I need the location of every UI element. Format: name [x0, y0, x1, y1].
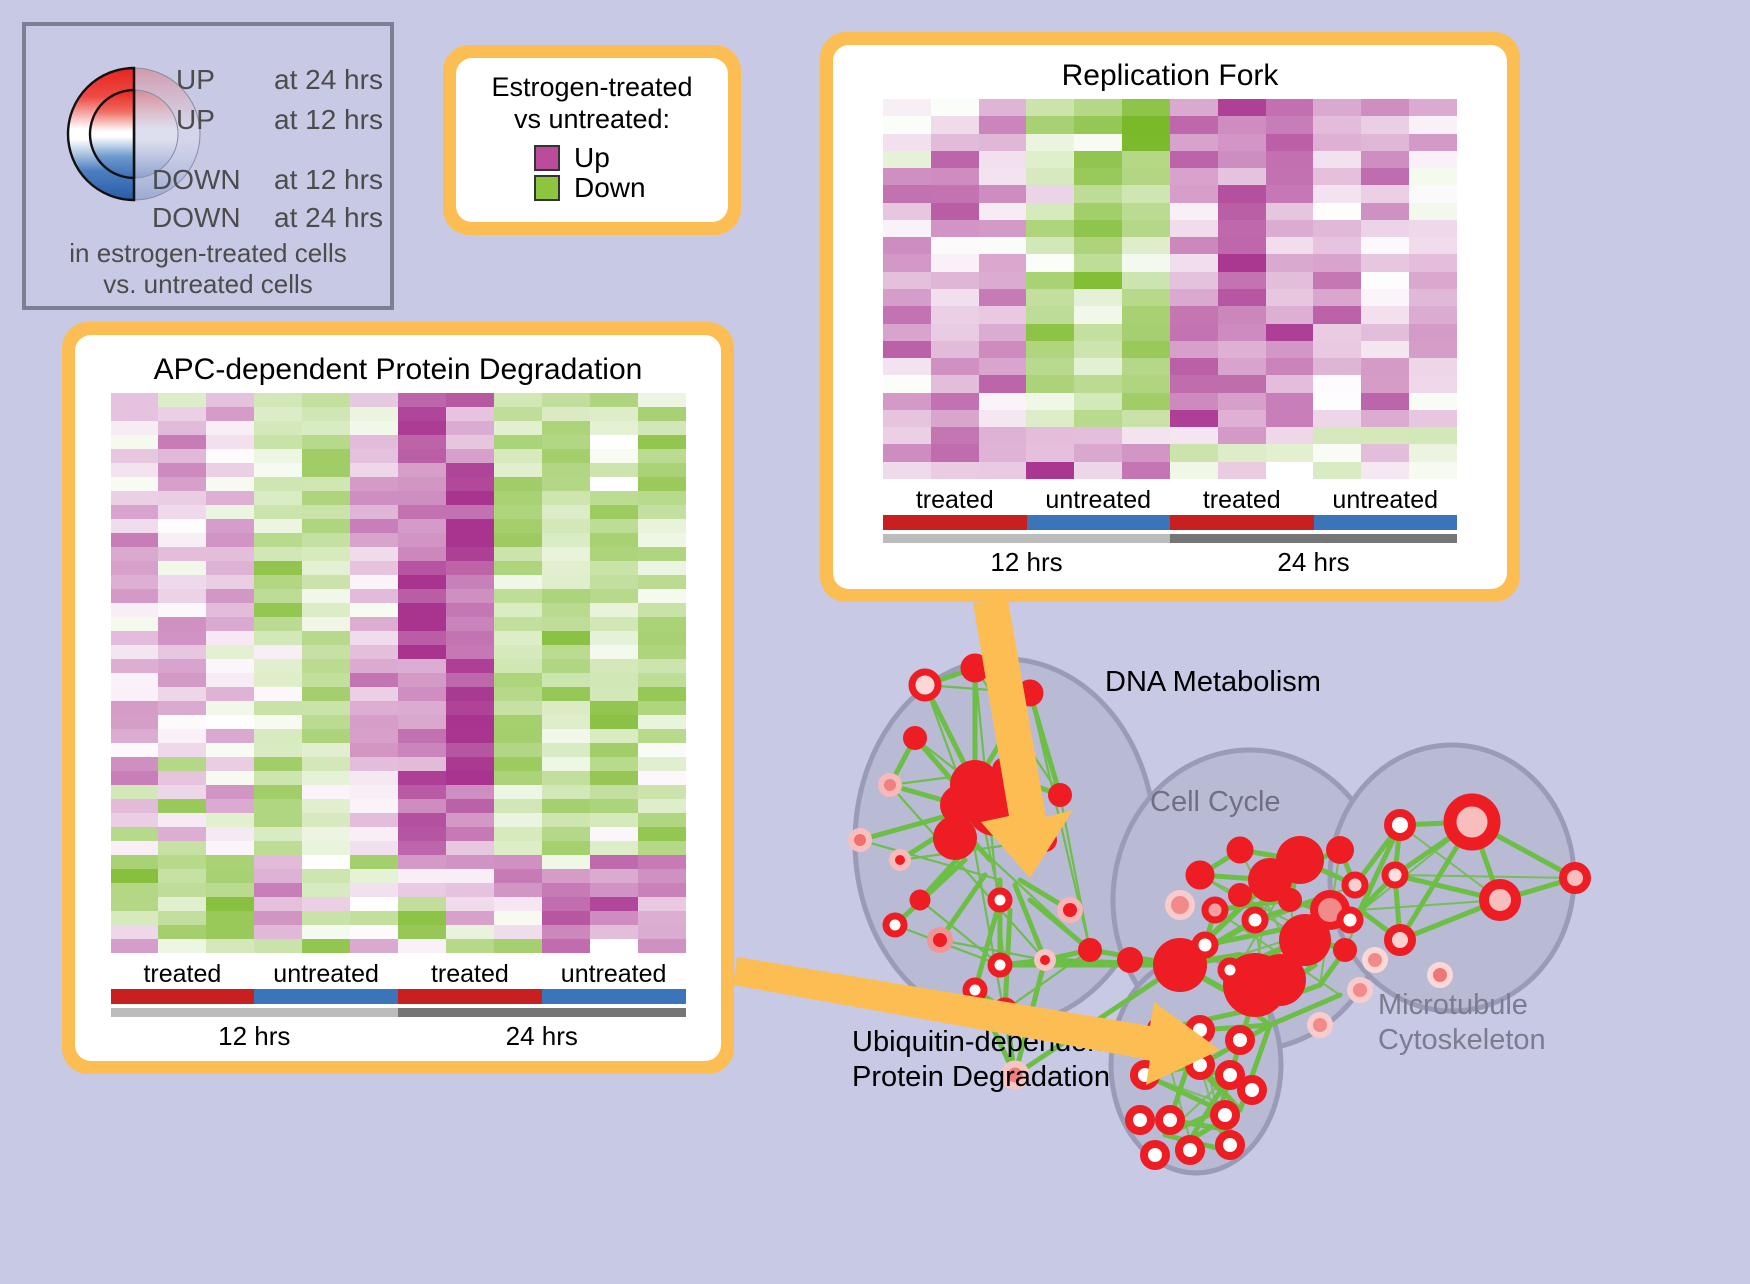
heatmap-cell — [254, 547, 302, 561]
heatmap-cell — [254, 617, 302, 631]
heatmap-cell — [158, 449, 206, 463]
heatmap-cell — [111, 701, 159, 715]
heatmap-cell — [111, 687, 159, 701]
heatmap-cell — [883, 237, 931, 254]
heatmap-cell — [638, 491, 686, 505]
heatmap-cell — [1409, 168, 1457, 185]
heatmap-cell — [1266, 324, 1314, 341]
heatmap-cell — [494, 799, 542, 813]
heatmap-cell — [1122, 168, 1170, 185]
heatmap-cell — [350, 743, 398, 757]
condition-label: untreated — [254, 960, 398, 989]
heatmap-cell — [1074, 341, 1122, 358]
heatmap-cell — [1170, 306, 1218, 323]
heatmap-cell — [158, 421, 206, 435]
heatmap-cell — [1218, 185, 1266, 202]
legend-inner: Estrogen-treated vs untreated: Up Down — [456, 58, 728, 222]
heatmap-cell — [446, 925, 494, 939]
heatmap-cell — [1266, 220, 1314, 237]
heatmap-cell — [254, 659, 302, 673]
heatmap-cell — [206, 449, 254, 463]
heatmap-cell — [1026, 393, 1074, 410]
heatmap-cell — [398, 477, 446, 491]
heatmap-cell — [979, 341, 1027, 358]
heatmap-cell — [254, 743, 302, 757]
heatmap-cell — [590, 477, 638, 491]
heatmap-cell — [446, 855, 494, 869]
heatmap-cell — [494, 421, 542, 435]
heatmap-cell — [1170, 358, 1218, 375]
condition-bar-untreated — [1314, 515, 1458, 530]
heatmap-cell — [1026, 134, 1074, 151]
heatmap-cell — [494, 393, 542, 407]
heatmap-cell — [542, 743, 590, 757]
heatmap-cell — [350, 547, 398, 561]
heatmap-cell — [158, 435, 206, 449]
heatmap-cell — [206, 631, 254, 645]
heatmap-cell — [638, 589, 686, 603]
heatmap-cell — [542, 505, 590, 519]
heatmap-cell — [494, 561, 542, 575]
heatmap-cell — [542, 575, 590, 589]
key-row-2-time: at 12 hrs — [274, 164, 383, 195]
heatmap-cell — [1313, 306, 1361, 323]
heatmap-cell — [1026, 427, 1074, 444]
heatmap-cell — [206, 911, 254, 925]
heatmap-cell — [931, 168, 979, 185]
heatmap-cell — [1361, 116, 1409, 133]
heatmap-cell — [1170, 134, 1218, 151]
heatmap-cell — [1122, 254, 1170, 271]
heatmap-cell — [638, 841, 686, 855]
heatmap-cell — [979, 324, 1027, 341]
heatmap-cell — [350, 939, 398, 953]
key-row-3-label: DOWN — [152, 202, 241, 233]
heatmap-cell — [542, 869, 590, 883]
heatmap-cell — [979, 375, 1027, 392]
heatmap-cell — [1361, 306, 1409, 323]
heatmap-cell — [638, 855, 686, 869]
heatmap-cell — [1218, 289, 1266, 306]
heatmap-cell — [302, 603, 350, 617]
heatmap-cell — [979, 185, 1027, 202]
heatmap-cell — [638, 575, 686, 589]
heatmap-cell — [446, 407, 494, 421]
heatmap-cell — [494, 407, 542, 421]
heatmap-cell — [1218, 272, 1266, 289]
heatmap-cell — [1409, 116, 1457, 133]
heatmap-cell — [1409, 393, 1457, 410]
heatmap-cell — [302, 659, 350, 673]
heatmap-cell — [158, 407, 206, 421]
heatmap-cell — [158, 757, 206, 771]
heatmap-cell — [638, 519, 686, 533]
heatmap-cell — [1409, 289, 1457, 306]
heatmap-cell — [398, 407, 446, 421]
heatmap-cell — [1361, 410, 1409, 427]
heatmap-cell — [350, 897, 398, 911]
heatmap-cell — [111, 897, 159, 911]
heatmap-cell — [254, 645, 302, 659]
heatmap-cell — [1361, 272, 1409, 289]
heatmap-cell — [206, 589, 254, 603]
heatmap-cell — [1170, 375, 1218, 392]
heatmap-cell — [350, 883, 398, 897]
heatmap-cell — [158, 925, 206, 939]
heatmap-cell — [398, 659, 446, 673]
heatmap-cell — [590, 729, 638, 743]
heatmap-cell — [542, 421, 590, 435]
heatmap-cell — [979, 462, 1027, 479]
heatmap-cell — [446, 575, 494, 589]
heatmap-cell — [350, 421, 398, 435]
heatmap-cell — [158, 813, 206, 827]
key-row-3-time-wrap: at 24 hrs — [274, 204, 383, 232]
heatmap-cell — [206, 393, 254, 407]
heatmap-cell — [883, 427, 931, 444]
microtubule-line1: Microtubule — [1378, 988, 1546, 1023]
heatmap-cell — [350, 505, 398, 519]
heatmap-cell — [1313, 462, 1361, 479]
heatmap-cell — [398, 855, 446, 869]
heatmap-cell — [446, 589, 494, 603]
heatmap-cell — [350, 449, 398, 463]
heatmap-cell — [1266, 289, 1314, 306]
heatmap-cell — [638, 533, 686, 547]
heatmap-cell — [1074, 289, 1122, 306]
heatmap-cell — [158, 911, 206, 925]
heatmap-cell — [1122, 393, 1170, 410]
condition-bar-treated — [398, 989, 542, 1004]
heatmap-cell — [1170, 237, 1218, 254]
key-row-1-label: UP — [176, 104, 215, 135]
condition-label: treated — [398, 960, 542, 989]
heatmap-cell — [590, 435, 638, 449]
heatmap-cell — [638, 617, 686, 631]
heatmap-cell — [1074, 99, 1122, 116]
heatmap-cell — [206, 743, 254, 757]
heatmap-cell — [398, 939, 446, 953]
heatmap-cell — [494, 869, 542, 883]
heatmap-cell — [931, 341, 979, 358]
heatmap-cell — [542, 771, 590, 785]
heatmap-cell — [1218, 134, 1266, 151]
heatmap-cell — [254, 757, 302, 771]
heatmap-cell — [979, 220, 1027, 237]
heatmap-cell — [206, 799, 254, 813]
heatmap-cell — [1266, 185, 1314, 202]
condition-label: treated — [111, 960, 255, 989]
heatmap-cell — [590, 393, 638, 407]
heatmap-cell — [542, 911, 590, 925]
heatmap-cell — [590, 589, 638, 603]
heatmap-cell — [254, 477, 302, 491]
heatmap-cell — [398, 925, 446, 939]
heatmap-cell — [931, 151, 979, 168]
heatmap-cell — [350, 757, 398, 771]
heatmap-cell — [158, 883, 206, 897]
heatmap-cell — [1026, 375, 1074, 392]
heatmap-cell — [446, 561, 494, 575]
heatmap-cell — [638, 883, 686, 897]
heatmap-cell — [206, 477, 254, 491]
heatmap-cell — [883, 185, 931, 202]
heatmap-cell — [302, 939, 350, 953]
heatmap-cell — [254, 575, 302, 589]
heatmap-cell — [1361, 289, 1409, 306]
heatmap-cell — [1122, 375, 1170, 392]
condition-bar-untreated — [254, 989, 398, 1004]
heatmap-cell — [590, 491, 638, 505]
heatmap-cell — [1026, 444, 1074, 461]
apc-condition-labels: treateduntreatedtreateduntreated — [111, 953, 686, 989]
heatmap-cell — [398, 589, 446, 603]
heatmap-cell — [398, 813, 446, 827]
apc-degradation-title: APC-dependent Protein Degradation — [75, 335, 721, 393]
heatmap-cell — [446, 673, 494, 687]
heatmap-cell — [350, 687, 398, 701]
heatmap-cell — [1266, 393, 1314, 410]
heatmap-cell — [1409, 341, 1457, 358]
heatmap-cell — [1361, 324, 1409, 341]
heatmap-cell — [446, 491, 494, 505]
heatmap-cell — [1170, 393, 1218, 410]
heatmap-cell — [158, 659, 206, 673]
heatmap-cell — [883, 393, 931, 410]
heatmap-cell — [1122, 99, 1170, 116]
heatmap-cell — [1313, 99, 1361, 116]
key-row-1-time: at 12 hrs — [274, 104, 383, 135]
heatmap-cell — [350, 617, 398, 631]
heatmap-cell — [446, 827, 494, 841]
heatmap-cell — [542, 491, 590, 505]
heatmap-cell — [1218, 168, 1266, 185]
heatmap-cell — [979, 116, 1027, 133]
heatmap-cell — [302, 673, 350, 687]
heatmap-cell — [931, 289, 979, 306]
heatmap-cell — [111, 869, 159, 883]
heatmap-cell — [979, 134, 1027, 151]
heatmap-cell — [1122, 289, 1170, 306]
heatmap-cell — [1266, 410, 1314, 427]
time-label: 24 hrs — [398, 1021, 686, 1052]
heatmap-cell — [1074, 375, 1122, 392]
heatmap-cell — [158, 505, 206, 519]
heatmap-cell — [638, 561, 686, 575]
heatmap-cell — [542, 393, 590, 407]
heatmap-cell — [542, 897, 590, 911]
heatmap-cell — [206, 617, 254, 631]
heatmap-cell — [931, 203, 979, 220]
heatmap-cell — [1313, 444, 1361, 461]
replication-fork-title: Replication Fork — [833, 45, 1507, 99]
heatmap-cell — [1170, 462, 1218, 479]
heatmap-cell — [590, 911, 638, 925]
heatmap-cell — [1074, 116, 1122, 133]
updown-legend-panel: Estrogen-treated vs untreated: Up Down — [443, 45, 741, 235]
heatmap-cell — [979, 254, 1027, 271]
heatmap-cell — [979, 444, 1027, 461]
legend-title-line1: Estrogen-treated — [456, 72, 728, 104]
heatmap-cell — [302, 575, 350, 589]
heatmap-cell — [446, 687, 494, 701]
heatmap-cell — [1409, 410, 1457, 427]
heatmap-cell — [1313, 427, 1361, 444]
heatmap-cell — [158, 519, 206, 533]
heatmap-cell — [1026, 324, 1074, 341]
heatmap-cell — [206, 547, 254, 561]
heatmap-cell — [1026, 116, 1074, 133]
heatmap-cell — [883, 254, 931, 271]
heatmap-cell — [1122, 462, 1170, 479]
heatmap-cell — [1313, 185, 1361, 202]
heatmap-cell — [542, 925, 590, 939]
legend-item-down: Down — [534, 174, 728, 202]
heatmap-cell — [590, 715, 638, 729]
heatmap-cell — [302, 491, 350, 505]
heatmap-cell — [979, 289, 1027, 306]
legend-items: Up Down — [456, 144, 728, 202]
heatmap-cell — [111, 589, 159, 603]
heatmap-cell — [1361, 341, 1409, 358]
heatmap-cell — [111, 435, 159, 449]
heatmap-cell — [494, 519, 542, 533]
heatmap-cell — [542, 659, 590, 673]
heatmap-cell — [931, 185, 979, 202]
heatmap-cell — [590, 771, 638, 785]
heatmap-cell — [931, 134, 979, 151]
heatmap-cell — [1266, 99, 1314, 116]
heatmap-cell — [302, 771, 350, 785]
heatmap-cell — [494, 827, 542, 841]
heatmap-cell — [111, 729, 159, 743]
heatmap-cell — [302, 505, 350, 519]
down-swatch-icon — [534, 175, 560, 201]
heatmap-cell — [931, 410, 979, 427]
heatmap-cell — [979, 272, 1027, 289]
heatmap-cell — [446, 645, 494, 659]
heatmap-cell — [931, 254, 979, 271]
heatmap-cell — [590, 449, 638, 463]
heatmap-cell — [590, 883, 638, 897]
heatmap-cell — [1170, 289, 1218, 306]
heatmap-cell — [111, 925, 159, 939]
heatmap-cell — [398, 715, 446, 729]
heatmap-cell — [1409, 272, 1457, 289]
heatmap-cell — [638, 449, 686, 463]
heatmap-cell — [158, 799, 206, 813]
heatmap-cell — [494, 897, 542, 911]
heatmap-cell — [158, 589, 206, 603]
heatmap-cell — [883, 306, 931, 323]
heatmap-cell — [931, 427, 979, 444]
heatmap-cell — [931, 358, 979, 375]
heatmap-cell — [111, 799, 159, 813]
heatmap-cell — [350, 603, 398, 617]
heatmap-cell — [494, 757, 542, 771]
time-bar-12hrs — [883, 534, 1170, 543]
heatmap-cell — [111, 743, 159, 757]
apc-condition-bars — [111, 989, 686, 1004]
heatmap-cell — [1026, 237, 1074, 254]
heatmap-cell — [1266, 444, 1314, 461]
heatmap-cell — [1313, 237, 1361, 254]
heatmap-cell — [446, 743, 494, 757]
heatmap-cell — [111, 813, 159, 827]
heatmap-cell — [206, 785, 254, 799]
heatmap-cell — [446, 841, 494, 855]
heatmap-cell — [350, 701, 398, 715]
heatmap-cell — [542, 855, 590, 869]
heatmap-cell — [350, 799, 398, 813]
heatmap-cell — [638, 645, 686, 659]
heatmap-cell — [302, 533, 350, 547]
heatmap-cell — [638, 673, 686, 687]
heatmap-cell — [254, 911, 302, 925]
heatmap-cell — [1409, 151, 1457, 168]
heatmap-cell — [590, 855, 638, 869]
pathway-network-diagram: DNA Metabolism Cell Cycle Microtubule Cy… — [800, 610, 1750, 1279]
heatmap-cell — [494, 505, 542, 519]
heatmap-cell — [1074, 324, 1122, 341]
heatmap-cell — [979, 358, 1027, 375]
heatmap-cell — [638, 407, 686, 421]
key-row-3: DOWN — [152, 204, 241, 232]
heatmap-cell — [1218, 151, 1266, 168]
heatmap-cell — [638, 421, 686, 435]
heatmap-cell — [1313, 358, 1361, 375]
heatmap-cell — [206, 757, 254, 771]
heatmap-cell — [1170, 116, 1218, 133]
heatmap-cell — [254, 827, 302, 841]
heatmap-cell — [302, 631, 350, 645]
heatmap-cell — [398, 547, 446, 561]
heatmap-cell — [931, 393, 979, 410]
heatmap-cell — [1266, 306, 1314, 323]
heatmap-cell — [1074, 134, 1122, 151]
heatmap-cell — [1218, 237, 1266, 254]
heatmap-cell — [350, 519, 398, 533]
heatmap-cell — [446, 449, 494, 463]
condition-bar-treated — [111, 989, 255, 1004]
heatmap-cell — [111, 631, 159, 645]
heatmap-cell — [931, 220, 979, 237]
heatmap-cell — [590, 925, 638, 939]
heatmap-cell — [979, 427, 1027, 444]
heatmap-cell — [254, 701, 302, 715]
heatmap-cell — [111, 533, 159, 547]
heatmap-cell — [1026, 306, 1074, 323]
key-footer-line2: vs. untreated cells — [26, 269, 390, 300]
heatmap-cell — [931, 237, 979, 254]
heatmap-cell — [111, 561, 159, 575]
heatmap-cell — [494, 911, 542, 925]
apc-time-labels: 12 hrs24 hrs — [111, 1017, 686, 1052]
heatmap-cell — [158, 561, 206, 575]
heatmap-cell — [1218, 203, 1266, 220]
heatmap-cell — [1026, 410, 1074, 427]
heatmap-cell — [979, 151, 1027, 168]
heatmap-cell — [254, 435, 302, 449]
heatmap-cell — [1026, 272, 1074, 289]
legend-item-up-label: Up — [574, 144, 610, 172]
heatmap-cell — [542, 519, 590, 533]
heatmap-cell — [590, 407, 638, 421]
heatmap-cell — [1170, 444, 1218, 461]
heatmap-cell — [542, 561, 590, 575]
heatmap-cell — [302, 813, 350, 827]
heatmap-cell — [206, 715, 254, 729]
